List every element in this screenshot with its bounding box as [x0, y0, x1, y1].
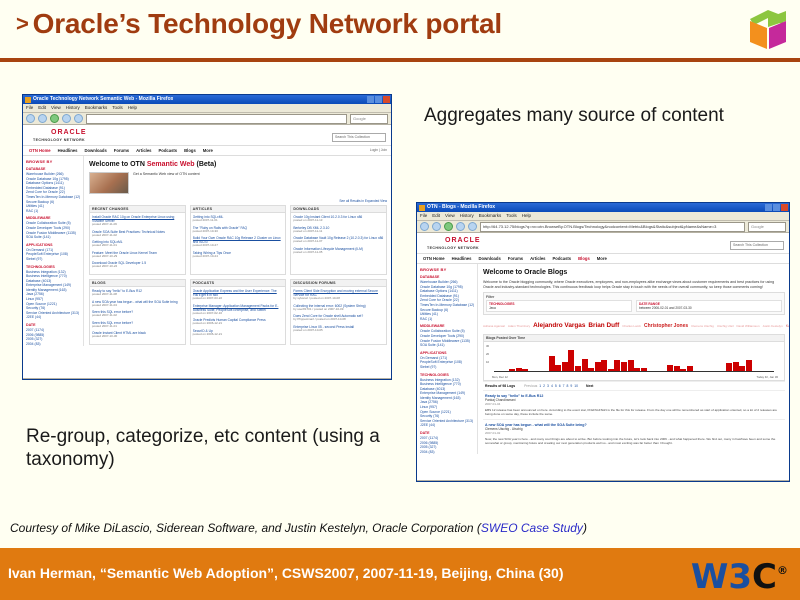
sidebar-groups: DATABASEWarehouse Builder (266)Oracle Da… [420, 275, 474, 454]
list-item-meta: posted 2007-10-30 [193, 230, 284, 234]
tag-cloud-author[interactable]: Brian Duff [588, 322, 619, 329]
maximize-button[interactable] [375, 96, 382, 103]
list-item[interactable]: The "Ruby on Rails with Oracle" FAQposte… [193, 226, 284, 234]
menu-history[interactable]: History [66, 104, 80, 112]
browser-search-input[interactable]: Google [748, 222, 786, 232]
close-button[interactable] [781, 204, 788, 211]
pager-page[interactable]: 2 [543, 384, 545, 388]
sidebar-item[interactable]: RAC (1) [420, 317, 474, 322]
list-item-meta: posted 2007-10-29 [92, 255, 183, 259]
tag-cloud-author[interactable]: Katheryn Frobert [786, 324, 789, 328]
list-item[interactable]: Enterprise Manager: Application Manageme… [193, 304, 284, 316]
menu-tools[interactable]: Tools [506, 212, 517, 220]
nav-downloads[interactable]: Downloads [478, 254, 500, 263]
expanded-view-link[interactable]: See all Results in Expanded View [89, 199, 387, 203]
list-item-meta: posted 2007-11-01 [92, 244, 183, 248]
sidebar-category: DATABASE [420, 275, 474, 279]
sidebar-item[interactable]: TimesTen In-Memory Database (12) [420, 303, 474, 308]
nav-account-links[interactable]: Login | Join [370, 146, 387, 155]
address-bar[interactable] [86, 114, 347, 124]
sidebar-item[interactable]: Siebel (97) [420, 365, 474, 370]
list-item[interactable]: Install Oracle RAC 10g on Oracle Enterpr… [92, 215, 183, 227]
chart-bar [568, 350, 574, 372]
content-panel: PODCASTSOracle Application Express and t… [190, 279, 287, 345]
panel-header: PODCASTS [191, 280, 286, 287]
statusbar-otn: Done [23, 378, 391, 380]
list-item[interactable]: Build Your Own Oracle RAC 10g Release 2 … [193, 236, 284, 248]
sidebar-category: APPLICATIONS [420, 351, 474, 355]
list-item-meta: posted 2007-11-08 [92, 293, 183, 297]
pager-page[interactable]: 7 [563, 384, 565, 388]
reload-icon[interactable] [444, 222, 453, 231]
sidebar-category: DATE [420, 431, 474, 435]
blog-post[interactable]: Ready to say "hello" to E-Bus R12Pankaj … [483, 390, 785, 419]
sidebar-item[interactable]: TimesTen In-Memory Database (12) [26, 195, 80, 200]
sweo-case-study-link[interactable]: SWEO Case Study [481, 521, 583, 535]
firefox-icon [25, 97, 31, 103]
filter-technologies-value: Java [489, 306, 629, 310]
intro-text: Get a Semantic Web view of OTN content [133, 172, 200, 177]
navigation-toolbar-blogs[interactable]: http://64.73.12.75/blogs?q=nx=otn.Browse… [417, 221, 789, 233]
list-item-meta: posted 2007-10-22 [92, 265, 183, 269]
pager-page[interactable]: 6 [559, 384, 561, 388]
list-item[interactable]: Oracle Database Vault 10g Release 2 (10.… [293, 236, 384, 244]
list-item[interactable]: Oracle 10g Instant Client 10.2.0.3 for L… [293, 215, 384, 223]
list-item[interactable]: SecurID & Upposted on 2006-12-21 [193, 329, 284, 337]
nav-articles[interactable]: Articles [136, 146, 151, 155]
blog-post-list: Ready to say "hello" to E-Bus R12Pankaj … [483, 390, 785, 448]
author-tag-cloud[interactable]: Adriana AgarwalAdam ThornburyAlejandro V… [483, 318, 785, 331]
nav-otn-home[interactable]: OTN Home [423, 254, 445, 263]
menu-history[interactable]: History [460, 212, 474, 220]
window-controls[interactable] [367, 96, 390, 103]
collection-search-input[interactable]: Search This Collection [332, 133, 386, 142]
minimize-button[interactable] [367, 96, 374, 103]
pager-page[interactable]: 8 [567, 384, 569, 388]
sidebar-item[interactable]: RAC (1) [26, 209, 80, 214]
blog-post[interactable]: A new SOA year has begun - what will the… [483, 419, 785, 448]
stop-icon[interactable] [62, 114, 71, 123]
panel-header: DISCUSSION FORUMS [291, 280, 386, 287]
chart-bar [549, 356, 555, 372]
chart-bars [496, 350, 772, 372]
list-item[interactable]: Ready to say "hello" to E-Bus R12posted … [92, 289, 183, 297]
blogs-heading: Welcome to Oracle Blogs [483, 269, 785, 276]
otn-content: BROWSE BY DATABASEWarehouse Builder (266… [23, 156, 391, 346]
list-item-meta: posted 2007-11-01 [92, 325, 183, 329]
blog-post-body: Now, the new SOA year is here - and many… [485, 437, 783, 445]
panel-grid-row-2: BLOGSReady to say "hello" to E-Bus R12po… [89, 279, 387, 345]
tag-cloud-author[interactable]: Charles Lamb [622, 324, 641, 328]
filter-date-range-value: between 2006-02-01 and 2007-03-30 [639, 306, 779, 310]
page-title: >Oracle’s Technology Network portal [16, 8, 502, 40]
list-item[interactable]: Oracle Instant Client HTML are blackpost… [92, 331, 183, 339]
browser-window-otn-blogs[interactable]: OTN - Blogs - Mozilla Firefox File Edit … [416, 202, 790, 482]
registered-trademark-icon: ® [777, 564, 788, 577]
list-item-meta: posted 2007-10-24 [193, 255, 284, 259]
back-icon[interactable] [420, 222, 429, 231]
nav-downloads[interactable]: Downloads [84, 146, 106, 155]
otn-main-column: Welcome to OTN Semantic Web (Beta) Get a… [84, 156, 391, 346]
menu-view[interactable]: View [51, 104, 61, 112]
back-icon[interactable] [26, 114, 35, 123]
menu-edit[interactable]: Edit [38, 104, 46, 112]
panel-header: DOWNLOADS [291, 206, 386, 213]
sidebar-item[interactable]: J2EE (44) [420, 423, 474, 428]
panel-body: Oracle 10g Instant Client 10.2.0.3 for L… [291, 213, 386, 259]
list-item[interactable]: Feature: Meet the Oracle Linux Kernel Te… [92, 251, 183, 259]
results-pager[interactable]: Results of 98 Logs Previous 12345678910 … [483, 381, 785, 390]
tag-cloud-author[interactable]: Utschig Utsil [717, 324, 734, 328]
welcome-heading-post: (Beta) [195, 161, 217, 168]
sidebar-category: MIDDLEWARE [420, 324, 474, 328]
callout-regroup: Re-group, categorize, etc content (using… [26, 425, 406, 471]
oracle-logo: ORACLE [51, 129, 87, 136]
pager-previous[interactable]: Previous [524, 384, 537, 388]
list-item[interactable]: Oracle SOA Suite Best Practices: Technic… [92, 230, 183, 238]
nav-otn-home[interactable]: OTN Home [29, 146, 51, 155]
oracle-logo-subtitle: TECHNOLOGY NETWORK [427, 246, 479, 250]
chart-y-tick-30: 30 [486, 344, 489, 348]
statusbar-blogs: Transferring data from 64.73.12.75... [417, 480, 789, 482]
list-item[interactable]: Seen this SQL error before?posted 2007-1… [92, 310, 183, 318]
list-item[interactable]: Oracle Predicts Human Capital Compliance… [193, 318, 284, 326]
blog-post-date: 2007-01-02 [485, 431, 783, 435]
panel-header: ARTICLES [191, 206, 286, 213]
panel-header: BLOGS [90, 280, 185, 287]
list-item[interactable]: Enterprise Linux 05 - second Press insta… [293, 325, 384, 333]
address-bar[interactable]: http://64.73.12.75/blogs?q=nx=otn.Browse… [480, 222, 745, 232]
sidebar-groups: DATABASEWarehouse Builder (266)Oracle Da… [26, 167, 80, 346]
panel-body: Ready to say "hello" to E-Bus R12posted … [90, 287, 185, 344]
content-panel: DOWNLOADSOracle 10g Instant Client 10.2.… [290, 205, 387, 275]
slide-header: >Oracle’s Technology Network portal [0, 0, 800, 62]
menubar-otn[interactable]: File Edit View History Bookmarks Tools H… [23, 104, 391, 113]
list-item-meta: posted on 2007-11-05 [293, 251, 384, 255]
browser-window-otn-semantic-web[interactable]: Oracle Technology Network Semantic Web -… [22, 94, 392, 380]
list-item-meta: posted 2007-11-02 [92, 314, 183, 318]
forward-icon[interactable] [432, 222, 441, 231]
page-title-text: Oracle’s Technology Network portal [33, 8, 502, 39]
courtesy-line: Courtesy of Mike DiLascio, Siderean Soft… [10, 521, 587, 535]
chart-plot-area[interactable]: 30 20 10 Mon, Dec 12 Today Fri, Jan 30 [484, 342, 784, 380]
welcome-heading: Welcome to OTN Semantic Web (Beta) [89, 161, 387, 168]
otn-primary-nav[interactable]: OTN Home Headlines Downloads Forums Arti… [417, 253, 789, 264]
content-panel: DISCUSSION FORUMSForms Client Side Encry… [290, 279, 387, 345]
pager-page[interactable]: 1 [539, 384, 541, 388]
chart-y-tick-10: 10 [486, 360, 489, 364]
pager-results-count: Results of 98 Logs [485, 384, 515, 388]
sidebar-category: DATABASE [26, 167, 80, 171]
list-item-meta: posted on 2007-02-16 [193, 312, 284, 316]
list-item[interactable]: Collecting the internal error: 6002 (Sys… [293, 304, 384, 312]
browse-by-sidebar: BROWSE BY DATABASEWarehouse Builder (266… [417, 264, 478, 454]
list-item[interactable]: Download Oracle SQL Developer 1.5posted … [92, 261, 183, 269]
chart-x-axis [494, 371, 774, 372]
list-item[interactable]: A new SOA year has begun - what will the… [92, 300, 183, 308]
list-item[interactable]: Oracle Information Lifecycle Management … [293, 247, 384, 255]
w3c-logo-c: C [752, 557, 777, 597]
nav-forums[interactable]: Forums [508, 254, 523, 263]
list-item-meta: posted on 2007-10-05 [293, 329, 384, 333]
reload-icon[interactable] [50, 114, 59, 123]
panel-grid-row-1: RECENT CHANGESInstall Oracle RAC 10g on … [89, 205, 387, 275]
window-title: Oracle Technology Network Semantic Web -… [33, 95, 173, 104]
list-item[interactable]: Seen this SQL error before?posted 2007-1… [92, 321, 183, 329]
list-item-meta: posted 2007-11-02 [92, 234, 183, 238]
panel-body: Install Oracle RAC 10g on Oracle Enterpr… [90, 213, 185, 274]
menu-bookmarks[interactable]: Bookmarks [479, 212, 502, 220]
menu-edit[interactable]: Edit [432, 212, 440, 220]
panel-body: Getting into SQLxMLposted 2007-11-01The … [191, 213, 286, 263]
browse-by-sidebar: BROWSE BY DATABASEWarehouse Builder (266… [23, 156, 84, 346]
w3c-logo: W3C® [691, 554, 788, 594]
list-item-meta: by sylverwi / posted on 2007-10-08 [293, 297, 384, 301]
window-controls[interactable] [765, 204, 788, 211]
list-item-meta: posted 2007-11-06 [92, 223, 183, 227]
w3c-logo-w3: W3 [691, 557, 752, 597]
panel-body: Oracle Application Express and the User … [191, 287, 286, 341]
nav-forums[interactable]: Forums [114, 146, 129, 155]
courtesy-suffix: ) [583, 521, 587, 535]
header-divider [0, 58, 800, 62]
list-item-meta: posted on 2007-11-11 [293, 230, 384, 234]
list-item[interactable]: Taking Wiring a Tips Onceposted 2007-10-… [193, 251, 284, 259]
collection-search-input[interactable]: Search This Collection [730, 241, 784, 250]
content-panel: RECENT CHANGESInstall Oracle RAC 10g on … [89, 205, 186, 275]
chart-title: Blogs Posted Over Time [484, 335, 784, 342]
sidebar-item[interactable]: J2EE (44) [26, 315, 80, 320]
tag-cloud-author[interactable]: Christopher Jones [644, 323, 688, 329]
nav-more[interactable]: More [203, 146, 213, 155]
oracle-logo-subtitle: TECHNOLOGY NETWORK [33, 138, 85, 142]
menu-bookmarks[interactable]: Bookmarks [85, 104, 108, 112]
callout-aggregates: Aggregates many source of content [424, 104, 784, 127]
filter-title: Filter [486, 295, 782, 299]
list-item-meta: posted 2007-10-30 [92, 335, 183, 339]
chart-right-label: Today Fri, Jan 30 [757, 375, 778, 379]
intro-row: Get a Semantic Web view of OTN content [89, 172, 387, 194]
pager-page-links[interactable]: 12345678910 [538, 384, 579, 388]
intro-photo [89, 172, 129, 194]
panel-header: RECENT CHANGES [90, 206, 185, 213]
filter-date-range[interactable]: DATE RANGE between 2006-02-01 and 2007-0… [636, 300, 782, 312]
pager-page[interactable]: 9 [570, 384, 572, 388]
sidebar-item[interactable]: SOA Suite (141) [26, 235, 80, 240]
list-item-meta: by PhppeAmarl / posted on 2007-10-08 [293, 318, 384, 322]
minimize-button[interactable] [765, 204, 772, 211]
blogs-intro-text: Welcome to the Oracle blogging community… [483, 280, 785, 289]
page-otn-blogs: ORACLE TECHNOLOGY NETWORK Search This Co… [417, 233, 789, 480]
sidebar-category: TECHNOLOGIES [420, 373, 474, 377]
bullet-marker-icon: > [16, 11, 29, 36]
list-item-meta: posted on 2006-12-21 [193, 333, 284, 337]
sidebar-item[interactable]: Siebel (97) [26, 257, 80, 262]
forward-icon[interactable] [38, 114, 47, 123]
list-item-meta: by user81701 / posted on 2007-10-09 [293, 308, 384, 312]
welcome-heading-pre: Welcome to OTN [89, 161, 147, 168]
tag-cloud-author[interactable]: Adam Thornbury [508, 324, 530, 328]
sidebar-item[interactable]: 2004 (83) [420, 450, 474, 455]
sidebar-item[interactable]: SOA Suite (141) [420, 343, 474, 348]
list-item-meta: posted on 2007-03-22 [193, 297, 284, 301]
firefox-icon [419, 205, 425, 211]
menu-file[interactable]: File [420, 212, 427, 220]
filter-row: TECHNOLOGIES Java DATE RANGE between 200… [486, 300, 782, 312]
menubar-blogs[interactable]: File Edit View History Bookmarks Tools H… [417, 212, 789, 221]
nav-blogs[interactable]: Blogs [578, 254, 590, 263]
panel-body: Forms Client Side Encryption and moving … [291, 287, 386, 337]
tag-cloud-author[interactable]: Clemens Utschig [691, 324, 714, 328]
nav-podcasts[interactable]: Podcasts [553, 254, 572, 263]
pager-page[interactable]: 4 [551, 384, 553, 388]
pager-next[interactable]: Next [586, 384, 593, 388]
list-item-meta: posted 2007-10-27 [193, 244, 284, 248]
blog-post-body: EBS 12 release has been announced on her… [485, 408, 783, 416]
tag-cloud-author[interactable]: Justin Kestelyn [763, 324, 783, 328]
nav-articles[interactable]: Articles [530, 254, 545, 263]
nav-more[interactable]: More [597, 254, 607, 263]
home-icon[interactable] [74, 114, 83, 123]
list-item-meta: posted on 2007-11-07 [293, 240, 384, 244]
list-item-meta: posted on 2007-11-13 [293, 219, 384, 223]
content-panel: BLOGSReady to say "hello" to E-Bus R12po… [89, 279, 186, 345]
nav-podcasts[interactable]: Podcasts [159, 146, 178, 155]
content-panel: ARTICLESGetting into SQLxMLposted 2007-1… [190, 205, 287, 275]
oracle-brand-header: ORACLE TECHNOLOGY NETWORK Search This Co… [417, 233, 789, 253]
otn-primary-nav[interactable]: OTN Home Headlines Downloads Forums Arti… [23, 145, 391, 156]
nav-blogs[interactable]: Blogs [184, 146, 196, 155]
blog-post-date: 2007-01-04 [485, 402, 783, 406]
page-otn-semantic-web: ORACLE TECHNOLOGY NETWORK Search This Co… [23, 125, 391, 378]
blogs-content: BROWSE BY DATABASEWarehouse Builder (266… [417, 264, 789, 454]
stop-icon[interactable] [456, 222, 465, 231]
pager-page[interactable]: 10 [574, 384, 578, 388]
filter-technologies[interactable]: TECHNOLOGIES Java [486, 300, 632, 312]
sidebar-category: DATE [26, 323, 80, 327]
window-title: OTN - Blogs - Mozilla Firefox [427, 203, 495, 212]
list-item[interactable]: Getting into SQLxMLposted 2007-11-01 [92, 240, 183, 248]
tag-cloud-author[interactable]: Alejandro Vargas [533, 322, 585, 329]
sidebar-category: APPLICATIONS [26, 243, 80, 247]
chart-y-tick-20: 20 [486, 352, 489, 356]
tag-cloud-author[interactable]: Adriana Agarwal [483, 324, 505, 328]
welcome-heading-emphasis: Semantic Web [147, 161, 195, 168]
list-item[interactable]: Berkeley DB XML 2.3.10posted on 2007-11-… [293, 226, 384, 234]
chart-left-label: Mon, Dec 12 [492, 375, 508, 379]
pager-page[interactable]: 3 [547, 384, 549, 388]
oracle-logo: ORACLE [445, 237, 481, 244]
list-item-meta: posted 2007-11-04 [92, 304, 183, 308]
filter-panel[interactable]: Filter TECHNOLOGIES Java DATE RANGE betw… [483, 292, 785, 315]
menu-file[interactable]: File [26, 104, 33, 112]
blogs-over-time-chart[interactable]: Blogs Posted Over Time 30 20 10 Mon, Dec… [483, 334, 785, 381]
titlebar-blogs: OTN - Blogs - Mozilla Firefox [417, 203, 789, 212]
menu-view[interactable]: View [445, 212, 455, 220]
sidebar-title: BROWSE BY [26, 159, 80, 164]
pager-page[interactable]: 5 [555, 384, 557, 388]
menu-help[interactable]: Help [128, 104, 137, 112]
sidebar-title: BROWSE BY [420, 267, 474, 272]
list-item[interactable]: Getting into SQLxMLposted 2007-11-01 [193, 215, 284, 223]
home-icon[interactable] [468, 222, 477, 231]
sidebar-category: TECHNOLOGIES [26, 265, 80, 269]
menu-help[interactable]: Help [522, 212, 531, 220]
list-item-meta: posted 2007-11-01 [193, 219, 284, 223]
menu-tools[interactable]: Tools [112, 104, 123, 112]
list-item[interactable]: Does Zend Core for Oracle shell Automati… [293, 314, 384, 322]
oracle-brand-header: ORACLE TECHNOLOGY NETWORK Search This Co… [23, 125, 391, 145]
sidebar-category: MIDDLEWARE [26, 216, 80, 220]
courtesy-prefix: Courtesy of Mike DiLascio, Siderean Soft… [10, 521, 481, 535]
close-button[interactable] [383, 96, 390, 103]
sweo-cube-logo [744, 5, 792, 53]
footer-citation: Ivan Herman, “Semantic Web Adoption”, CS… [8, 565, 564, 581]
browser-search-input[interactable]: Google [350, 114, 388, 124]
tag-cloud-author[interactable]: David Williamson [737, 324, 760, 328]
titlebar-otn: Oracle Technology Network Semantic Web -… [23, 95, 391, 104]
list-item[interactable]: Forms Client Side Encryption and moving … [293, 289, 384, 301]
navigation-toolbar-otn[interactable]: Google [23, 113, 391, 125]
blogs-main-column: Welcome to Oracle Blogs Welcome to the O… [478, 264, 789, 454]
list-item-meta: posted on 2006-12-21 [193, 322, 284, 326]
nav-headlines[interactable]: Headlines [58, 146, 78, 155]
list-item[interactable]: Oracle Application Express and the User … [193, 289, 284, 301]
nav-headlines[interactable]: Headlines [452, 254, 472, 263]
sidebar-item[interactable]: 2004 (83) [26, 342, 80, 347]
maximize-button[interactable] [773, 204, 780, 211]
